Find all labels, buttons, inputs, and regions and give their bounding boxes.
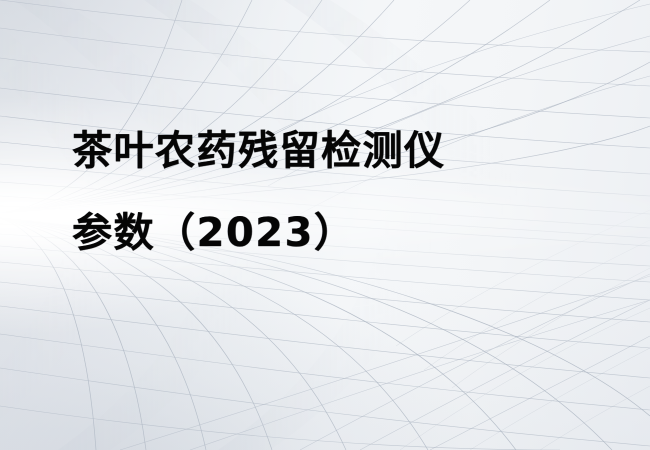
title-banner: 茶叶农药残留检测仪 参数（2023） xyxy=(0,0,650,450)
title-line-secondary: 参数（2023） xyxy=(72,204,612,262)
page-title: 茶叶农药残留检测仪 参数（2023） xyxy=(72,122,612,262)
title-line-primary: 茶叶农药残留检测仪 xyxy=(72,122,612,180)
